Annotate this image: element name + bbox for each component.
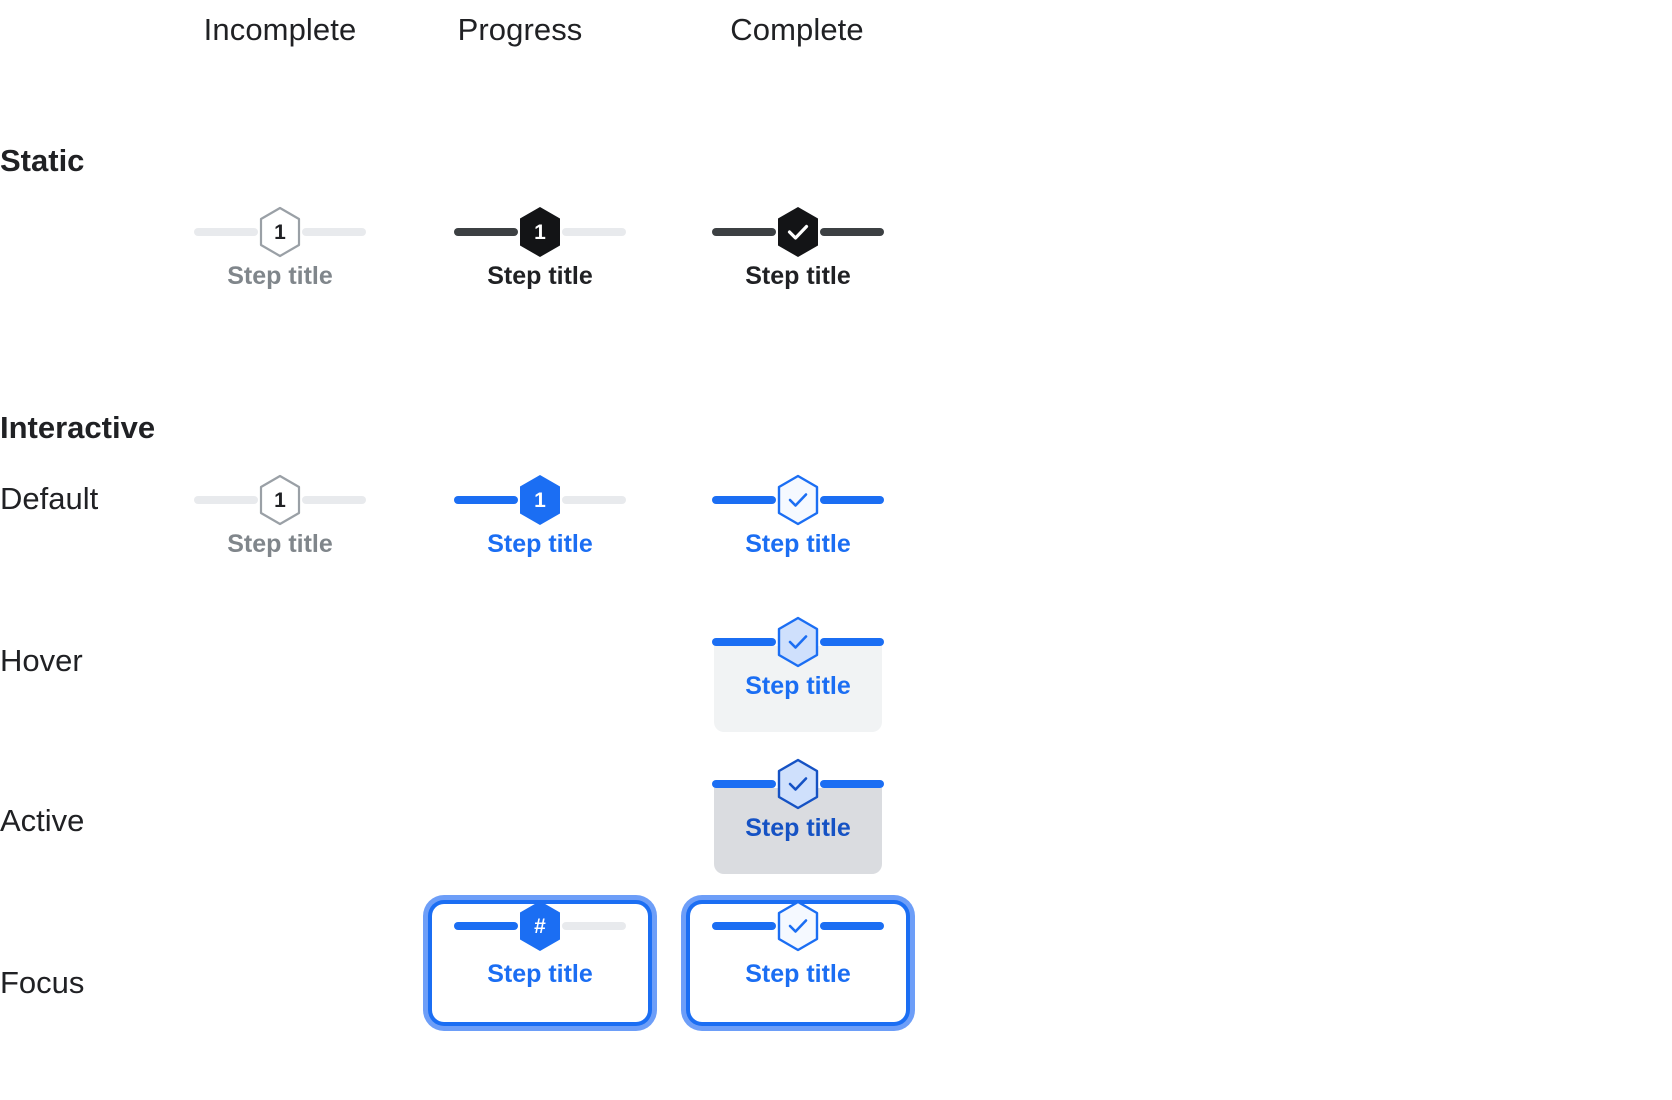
step-static-incomplete: 1 Step title	[150, 190, 410, 310]
column-header-complete: Complete	[667, 12, 927, 48]
track-segment-left	[712, 922, 776, 930]
track-segment-right	[302, 228, 366, 236]
step-default-progress[interactable]: 1 Step title	[410, 458, 670, 578]
step-title: Step title	[668, 672, 928, 701]
hexagon-check-icon	[775, 616, 821, 668]
stepper-specimen-sheet: Incomplete Progress Complete Static Inte…	[0, 0, 1672, 1100]
track-segment-right	[562, 228, 626, 236]
section-label-static: Static	[0, 143, 84, 179]
track-segment-right	[562, 922, 626, 930]
step-hover-complete[interactable]: Step title	[668, 600, 928, 720]
track-segment-right	[820, 922, 884, 930]
step-title: Step title	[668, 814, 928, 843]
track-segment-left	[454, 228, 518, 236]
track-segment-left	[454, 496, 518, 504]
step-focus-progress[interactable]: # Step title	[410, 884, 670, 1004]
hexagon-check-icon	[775, 474, 821, 526]
track-segment-right	[820, 228, 884, 236]
step-title: Step title	[668, 960, 928, 989]
step-title: Step title	[150, 262, 410, 291]
step-title: Step title	[668, 530, 928, 559]
column-header-incomplete: Incomplete	[150, 12, 410, 48]
hexagon-check-icon	[775, 900, 821, 952]
track-segment-right	[820, 496, 884, 504]
column-header-progress: Progress	[390, 12, 650, 48]
track-segment-left	[454, 922, 518, 930]
step-default-incomplete[interactable]: 1 Step title	[150, 458, 410, 578]
row-label-active: Active	[0, 803, 84, 839]
step-title: Step title	[410, 960, 670, 989]
hexagon-outline-icon: 1	[257, 206, 303, 258]
step-title: Step title	[150, 530, 410, 559]
step-active-complete[interactable]: Step title	[668, 742, 928, 862]
track-segment-left	[194, 228, 258, 236]
hexagon-outline-icon: 1	[257, 474, 303, 526]
row-label-hover: Hover	[0, 643, 83, 679]
step-default-complete[interactable]: Step title	[668, 458, 928, 578]
track-segment-left	[712, 228, 776, 236]
section-label-interactive: Interactive	[0, 410, 155, 446]
step-title: Step title	[668, 262, 928, 291]
track-segment-right	[820, 638, 884, 646]
hexagon-filled-icon: 1	[517, 206, 563, 258]
track-segment-left	[712, 496, 776, 504]
track-segment-left	[194, 496, 258, 504]
track-segment-right	[562, 496, 626, 504]
step-static-progress: 1 Step title	[410, 190, 670, 310]
track-segment-left	[712, 780, 776, 788]
track-segment-right	[302, 496, 366, 504]
track-segment-left	[712, 638, 776, 646]
hexagon-filled-icon: #	[517, 900, 563, 952]
step-title: Step title	[410, 262, 670, 291]
step-static-complete: Step title	[668, 190, 928, 310]
hexagon-filled-icon: 1	[517, 474, 563, 526]
row-label-focus: Focus	[0, 965, 84, 1001]
step-title: Step title	[410, 530, 670, 559]
hexagon-check-icon	[775, 758, 821, 810]
hexagon-check-icon	[775, 206, 821, 258]
step-focus-complete[interactable]: Step title	[668, 884, 928, 1004]
row-label-default: Default	[0, 481, 98, 517]
track-segment-right	[820, 780, 884, 788]
